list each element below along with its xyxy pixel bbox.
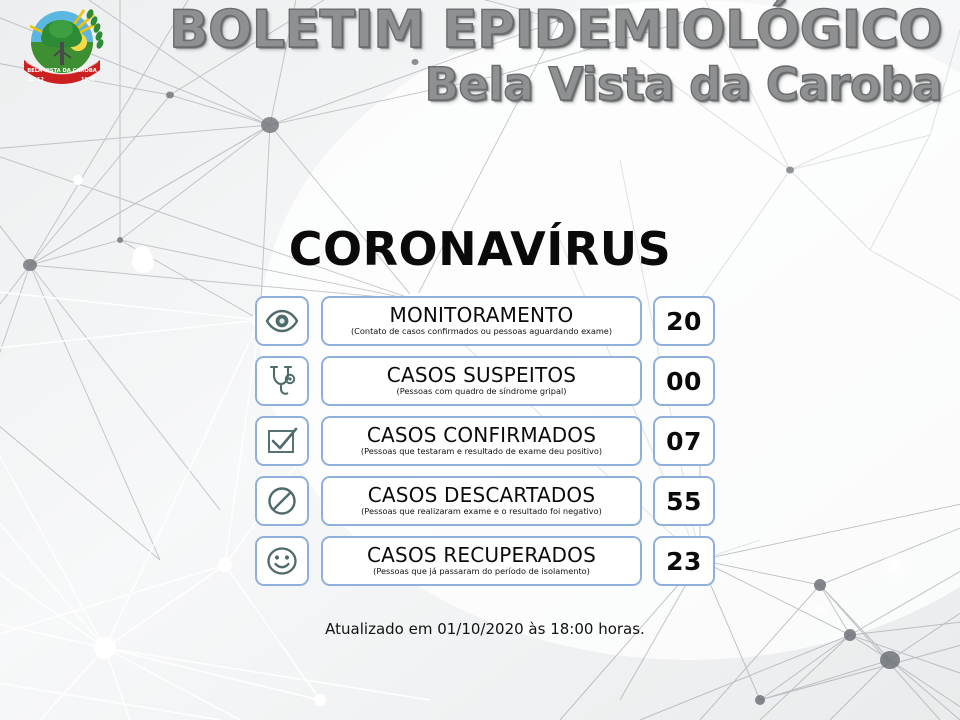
stat-description: (Pessoas que testaram e resultado de exa… — [361, 447, 602, 457]
count-box-casos-confirmados: 07 — [653, 416, 715, 466]
stat-count: 20 — [666, 307, 702, 336]
stat-description: (Pessoas com quadro de síndrome gripal) — [397, 387, 567, 397]
stat-count: 00 — [666, 367, 702, 396]
label-box-casos-recuperados: CASOS RECUPERADOS (Pessoas que já passar… — [321, 536, 642, 586]
icon-box-monitoramento — [255, 296, 309, 346]
icon-box-casos-recuperados — [255, 536, 309, 586]
stat-row-casos-descartados: CASOS DESCARTADOS (Pessoas que realizara… — [255, 476, 715, 526]
icon-box-casos-suspeitos — [255, 356, 309, 406]
stat-title: CASOS SUSPEITOS — [387, 365, 576, 386]
page-title: BOLETIM EPIDEMIOLÓGICO — [169, 4, 942, 56]
crest-date-right: 1995 — [81, 77, 95, 83]
municipal-crest-icon: BELA VISTA DA CAROBA 21-12 1995 — [16, 2, 108, 90]
stat-title: CASOS CONFIRMADOS — [367, 425, 596, 446]
page-subtitle: Bela Vista da Caroba — [169, 62, 942, 107]
updated-timestamp: Atualizado em 01/10/2020 às 18:00 horas. — [255, 620, 715, 638]
bulletin-slide: BELA VISTA DA CAROBA 21-12 1995 BOLETIM … — [0, 0, 960, 720]
count-box-casos-recuperados: 23 — [653, 536, 715, 586]
stat-title: CASOS RECUPERADOS — [367, 545, 596, 566]
crest-date-left: 21-12 — [28, 77, 45, 83]
stat-description: (Pessoas que realizaram exame e o result… — [361, 507, 602, 517]
count-box-monitoramento: 20 — [653, 296, 715, 346]
stat-title: CASOS DESCARTADOS — [368, 485, 596, 506]
prohibition-icon — [267, 486, 297, 516]
stat-row-monitoramento: MONITORAMENTO (Contato de casos confirma… — [255, 296, 715, 346]
label-box-monitoramento: MONITORAMENTO (Contato de casos confirma… — [321, 296, 642, 346]
stat-row-casos-suspeitos: CASOS SUSPEITOS (Pessoas com quadro de s… — [255, 356, 715, 406]
count-box-casos-suspeitos: 00 — [653, 356, 715, 406]
stat-description: (Pessoas que já passaram do período de i… — [373, 567, 590, 577]
stat-title: MONITORAMENTO — [390, 305, 574, 326]
stat-row-casos-recuperados: CASOS RECUPERADOS (Pessoas que já passar… — [255, 536, 715, 586]
stat-count: 55 — [666, 487, 702, 516]
header: BELA VISTA DA CAROBA 21-12 1995 BOLETIM … — [0, 0, 960, 150]
stats-list: MONITORAMENTO (Contato de casos confirma… — [255, 296, 715, 596]
icon-box-casos-descartados — [255, 476, 309, 526]
label-box-casos-confirmados: CASOS CONFIRMADOS (Pessoas que testaram … — [321, 416, 642, 466]
stat-count: 07 — [666, 427, 702, 456]
label-box-casos-suspeitos: CASOS SUSPEITOS (Pessoas com quadro de s… — [321, 356, 642, 406]
smiley-face-icon — [266, 546, 298, 576]
eye-icon — [265, 309, 299, 333]
checkbox-check-icon — [266, 427, 298, 455]
main-heading: CORONAVÍRUS — [0, 222, 960, 276]
title-block: BOLETIM EPIDEMIOLÓGICO Bela Vista da Car… — [169, 4, 942, 107]
stat-row-casos-confirmados: CASOS CONFIRMADOS (Pessoas que testaram … — [255, 416, 715, 466]
count-box-casos-descartados: 55 — [653, 476, 715, 526]
icon-box-casos-confirmados — [255, 416, 309, 466]
label-box-casos-descartados: CASOS DESCARTADOS (Pessoas que realizara… — [321, 476, 642, 526]
crest-motto: BELA VISTA DA CAROBA — [27, 68, 97, 74]
stethoscope-icon — [268, 365, 296, 397]
stat-description: (Contato de casos confirmados ou pessoas… — [351, 327, 612, 337]
stat-count: 23 — [666, 547, 702, 576]
